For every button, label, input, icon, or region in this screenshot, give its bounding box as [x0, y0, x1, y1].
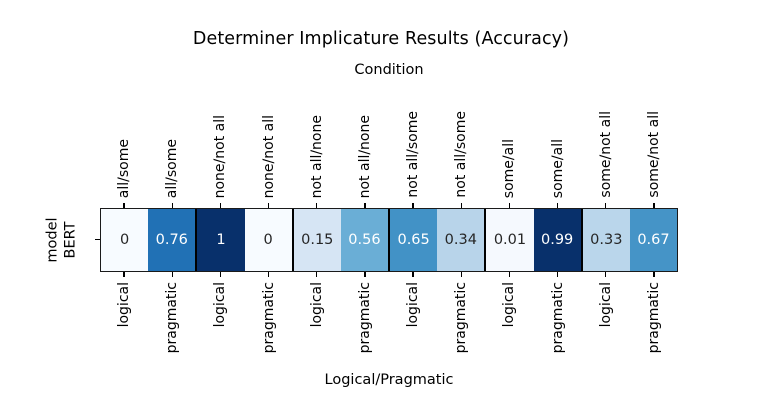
- bottom-tick-row: logicalpragmaticlogicalpragmaticlogicalp…: [100, 272, 678, 370]
- top-tick-10: some/not all: [582, 94, 630, 208]
- mode-tick-label: logical: [406, 282, 420, 327]
- tick-mark: [653, 272, 654, 277]
- heatmap-cell: 0: [101, 209, 148, 271]
- mode-tick-label: logical: [599, 282, 613, 327]
- tick-mark: [364, 272, 365, 277]
- heatmap-cell-value: 0.33: [590, 233, 622, 248]
- condition-tick-label: some/all: [502, 139, 516, 198]
- mode-tick-label: pragmatic: [551, 282, 565, 353]
- condition-tick-label: not all/none: [358, 115, 372, 198]
- mode-tick-label: pragmatic: [647, 282, 661, 353]
- bottom-tick-2: logical: [196, 272, 244, 370]
- tick-mark: [461, 272, 462, 277]
- tick-mark: [316, 272, 317, 277]
- heatmap-cell-value: 0.15: [301, 233, 333, 248]
- tick-mark: [412, 272, 413, 277]
- heatmap-grid: 00.76100.150.560.650.340.010.990.330.67: [100, 208, 678, 272]
- condition-tick-label: some/all: [551, 139, 565, 198]
- heatmap-cell-value: 0.99: [541, 233, 573, 248]
- heatmap-cell-value: 1: [216, 233, 225, 248]
- heatmap-cell-value: 0.67: [637, 233, 669, 248]
- condition-tick-label: all/some: [165, 139, 179, 198]
- heatmap-cell: 0.01: [486, 209, 533, 271]
- condition-tick-label: not all/some: [454, 111, 468, 198]
- top-tick-4: not all/none: [293, 94, 341, 208]
- heatmap-cell: 1: [197, 209, 244, 271]
- condition-tick-label: some/not all: [599, 111, 613, 198]
- heatmap-cell: 0.56: [341, 209, 390, 271]
- heatmap-cell-value: 0: [263, 233, 272, 248]
- tick-mark: [220, 272, 221, 277]
- mode-tick-label: pragmatic: [262, 282, 276, 353]
- y-tick-label-bert: BERT: [48, 207, 92, 273]
- top-tick-5: not all/none: [341, 94, 389, 208]
- condition-tick-label: none/not all: [262, 115, 276, 198]
- bottom-tick-1: pragmatic: [148, 272, 196, 370]
- bottom-tick-5: pragmatic: [341, 272, 389, 370]
- heatmap-cell-value: 0.56: [348, 233, 380, 248]
- heatmap-cell-value: 0: [120, 233, 129, 248]
- heatmap-cell: 0.33: [583, 209, 630, 271]
- bottom-tick-6: logical: [389, 272, 437, 370]
- tick-mark: [605, 272, 606, 277]
- heatmap-cell-value: 0.65: [397, 233, 429, 248]
- top-axis-label-condition: Condition: [100, 62, 678, 78]
- tick-mark: [172, 272, 173, 277]
- tick-mark: [509, 272, 510, 277]
- heatmap-cell: 0.67: [630, 209, 677, 271]
- mode-tick-label: logical: [213, 282, 227, 327]
- mode-tick-label: logical: [117, 282, 131, 327]
- bottom-tick-8: logical: [485, 272, 533, 370]
- bottom-tick-7: pragmatic: [437, 272, 485, 370]
- top-tick-2: none/not all: [196, 94, 244, 208]
- y-tick-label-text: BERT: [62, 222, 78, 259]
- top-tick-8: some/all: [485, 94, 533, 208]
- bottom-tick-10: logical: [582, 272, 630, 370]
- condition-tick-label: all/some: [117, 139, 131, 198]
- tick-mark: [557, 272, 558, 277]
- top-tick-11: some/not all: [630, 94, 678, 208]
- mode-tick-label: pragmatic: [358, 282, 372, 353]
- condition-tick-label: some/not all: [647, 111, 661, 198]
- bottom-axis-label-logical-pragmatic: Logical/Pragmatic: [100, 372, 678, 388]
- chart-title: Determiner Implicature Results (Accuracy…: [0, 29, 762, 49]
- tick-mark: [268, 272, 269, 277]
- top-tick-9: some/all: [534, 94, 582, 208]
- tick-mark: [123, 272, 124, 277]
- top-tick-6: not all/some: [389, 94, 437, 208]
- bottom-tick-3: pragmatic: [245, 272, 293, 370]
- bottom-tick-0: logical: [100, 272, 148, 370]
- mode-tick-label: logical: [502, 282, 516, 327]
- top-tick-0: all/some: [100, 94, 148, 208]
- bottom-tick-4: logical: [293, 272, 341, 370]
- heatmap-cell-value: 0.34: [445, 233, 477, 248]
- condition-tick-label: none/not all: [213, 115, 227, 198]
- top-tick-row: all/someall/somenone/not allnone/not all…: [100, 94, 678, 208]
- heatmap-cell: 0.15: [294, 209, 341, 271]
- heatmap-figure: Determiner Implicature Results (Accuracy…: [0, 0, 762, 402]
- heatmap-cell: 0.34: [437, 209, 486, 271]
- condition-tick-label: not all/none: [310, 115, 324, 198]
- mode-tick-label: pragmatic: [165, 282, 179, 353]
- mode-tick-label: logical: [310, 282, 324, 327]
- top-tick-3: none/not all: [245, 94, 293, 208]
- heatmap-cell: 0.76: [148, 209, 197, 271]
- bottom-tick-11: pragmatic: [630, 272, 678, 370]
- top-tick-7: not all/some: [437, 94, 485, 208]
- bottom-tick-9: pragmatic: [534, 272, 582, 370]
- heatmap-cell: 0.99: [534, 209, 583, 271]
- heatmap-cell: 0: [245, 209, 294, 271]
- heatmap-cell-value: 0.01: [494, 233, 526, 248]
- mode-tick-label: pragmatic: [454, 282, 468, 353]
- heatmap-cell: 0.65: [390, 209, 437, 271]
- heatmap-cell-value: 0.76: [156, 233, 188, 248]
- top-tick-1: all/some: [148, 94, 196, 208]
- condition-tick-label: not all/some: [406, 111, 420, 198]
